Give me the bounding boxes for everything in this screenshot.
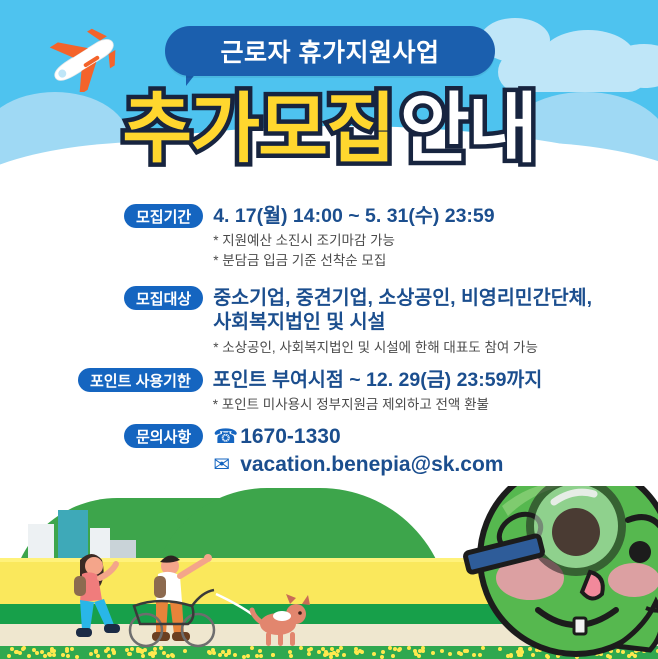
section-point: 포인트 사용기한 포인트 부여시점 ~ 12. 29(금) 23:59까지 * … [78, 368, 542, 415]
content-area: 모집기간 4. 17(월) 14:00 ~ 5. 31(수) 23:59 * 지… [0, 196, 658, 486]
green-mascot-with-magnifier-icon [458, 486, 658, 659]
section-period-body: 4. 17(월) 14:00 ~ 5. 31(수) 23:59 * 지원예산 소… [213, 204, 494, 271]
title-badge: 근로자 휴가지원사업 [165, 26, 495, 76]
walking-couple-group [50, 544, 310, 654]
envelope-icon: ✉ [213, 455, 237, 475]
section-target-lead-1: 중소기업, 중견기업, 소상공인, 비영리민간단체, [213, 286, 592, 310]
section-point-label: 포인트 사용기한 [78, 368, 203, 392]
person-woman [74, 554, 120, 637]
section-target-note-1: * 소상공인, 사회복지법인 및 시설에 한해 대표도 참여 가능 [213, 338, 592, 358]
section-point-lead: 포인트 부여시점 ~ 12. 29(금) 23:59까지 [213, 368, 543, 392]
headline: 추가모집 안내 [0, 80, 658, 180]
sky-header: 근로자 휴가지원사업 추가모집 안내 [0, 0, 658, 196]
section-contact-body: ☎ 1670-1330 ✉ vacation.benepia@sk.com [213, 424, 503, 479]
section-point-note-1: * 포인트 미사용시 정부지원금 제외하고 전액 환불 [213, 395, 543, 415]
title-badge-label: 근로자 휴가지원사업 [221, 33, 440, 69]
contact-phone-value: 1670-1330 [240, 424, 340, 450]
section-period-label: 모집기간 [124, 204, 203, 228]
section-period-note-2: * 분담금 입금 기준 선착순 모집 [213, 251, 494, 271]
section-period-note-1: * 지원예산 소진시 조기마감 가능 [213, 231, 494, 251]
section-contact-label: 문의사항 [124, 424, 203, 448]
section-contact: 문의사항 ☎ 1670-1330 ✉ vacation.benepia@sk.c… [124, 424, 503, 479]
section-point-body: 포인트 부여시점 ~ 12. 29(금) 23:59까지 * 포인트 미사용시 … [213, 368, 543, 415]
illustration-scene [0, 486, 658, 659]
section-target-lead-2: 사회복지법인 및 시설 [213, 310, 592, 334]
section-target: 모집대상 중소기업, 중견기업, 소상공인, 비영리민간단체, 사회복지법인 및… [124, 286, 592, 357]
headline-part2: 안내 [400, 92, 536, 168]
telephone-icon: ☎ [213, 427, 237, 447]
contact-email-row: ✉ vacation.benepia@sk.com [213, 452, 503, 478]
section-target-body: 중소기업, 중견기업, 소상공인, 비영리민간단체, 사회복지법인 및 시설 *… [213, 286, 592, 357]
dog [252, 594, 310, 646]
section-period-lead: 4. 17(월) 14:00 ~ 5. 31(수) 23:59 [213, 204, 494, 228]
section-target-label: 모집대상 [124, 286, 203, 310]
section-period: 모집기간 4. 17(월) 14:00 ~ 5. 31(수) 23:59 * 지… [124, 204, 495, 271]
poster-root: 근로자 휴가지원사업 추가모집 안내 모집기간 4. 17(월) 14:00 ~… [0, 0, 658, 659]
contact-email-value: vacation.benepia@sk.com [240, 452, 503, 478]
contact-phone-row: ☎ 1670-1330 [213, 424, 503, 450]
headline-part1: 추가모집 [122, 92, 394, 168]
